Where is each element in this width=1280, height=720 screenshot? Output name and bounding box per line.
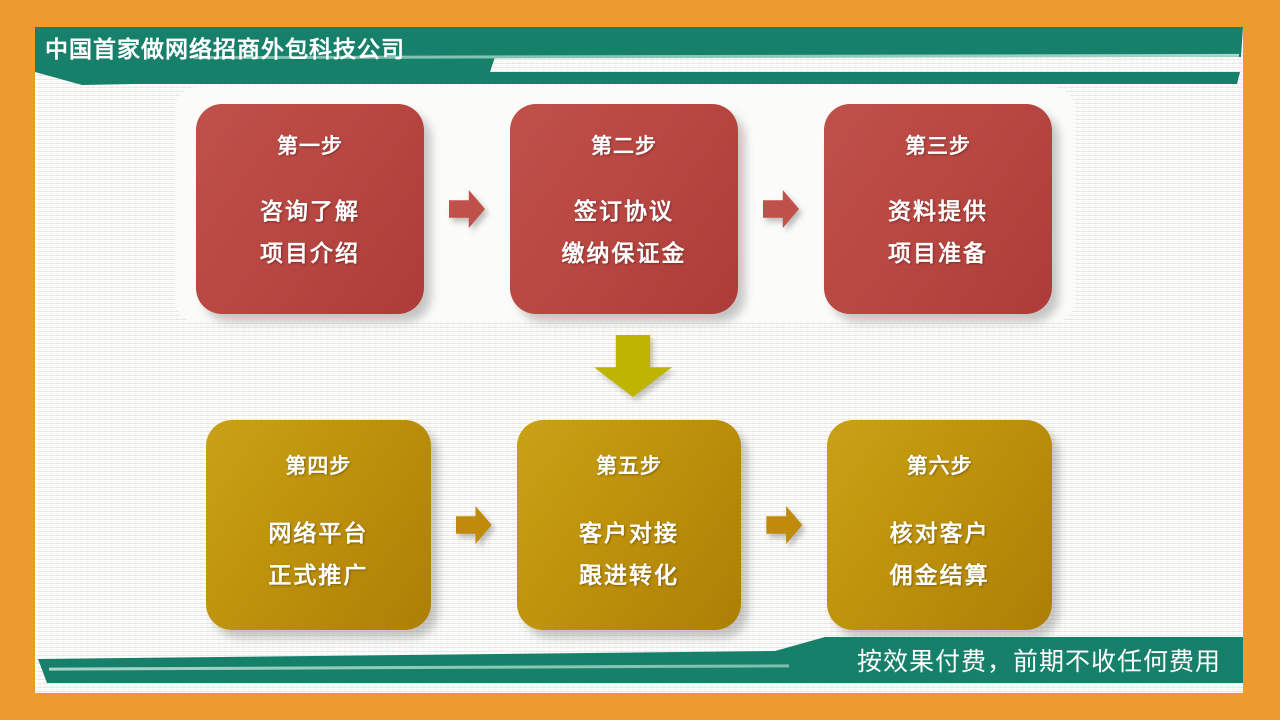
step-line-4-1: 网络平台: [268, 512, 368, 554]
step-card-2[interactable]: 第二步 签订协议 缴纳保证金: [510, 104, 738, 314]
step-title-4: 第四步: [285, 450, 351, 480]
arrow-right-icon-4: [766, 506, 802, 544]
step-title-6: 第六步: [907, 450, 973, 480]
arrow-right-shape-4: [766, 506, 802, 544]
slide-root: 中国首家做网络招商外包科技公司 第一步 咨询了解 项目介绍 第二步 签订协议 缴…: [0, 0, 1280, 720]
step-title-2: 第二步: [591, 130, 657, 160]
step-line-3-1: 资料提供: [888, 190, 988, 232]
step-card-5[interactable]: 第五步 客户对接 跟进转化: [517, 420, 742, 630]
step-card-1[interactable]: 第一步 咨询了解 项目介绍: [196, 104, 424, 314]
step-line-5-1: 客户对接: [579, 512, 679, 554]
step-card-3[interactable]: 第三步 资料提供 项目准备: [824, 104, 1052, 314]
page-title: 中国首家做网络招商外包科技公司: [45, 27, 405, 72]
step-line-3-2: 项目准备: [888, 232, 988, 274]
arrow-right-shape-1: [449, 190, 485, 228]
step-body-1: 咨询了解 项目介绍: [260, 190, 360, 274]
arrow-down-icon: [594, 335, 672, 397]
process-row-top: 第一步 咨询了解 项目介绍 第二步 签订协议 缴纳保证金 第三步 资料提供 项目…: [196, 104, 1062, 314]
step-line-5-2: 跟进转化: [579, 554, 679, 596]
arrow-right-icon-2: [763, 190, 799, 228]
step-body-5: 客户对接 跟进转化: [579, 512, 679, 596]
arrow-right-icon-3: [456, 506, 492, 544]
arrow-right-shape-3: [456, 506, 492, 544]
process-row-bottom: 第四步 网络平台 正式推广 第五步 客户对接 跟进转化 第六步 核对客户 佣金结…: [206, 420, 1052, 630]
arrow-right-icon-1: [449, 190, 485, 228]
step-line-2-1: 签订协议: [562, 190, 687, 232]
step-body-6: 核对客户 佣金结算: [890, 512, 990, 596]
step-card-6[interactable]: 第六步 核对客户 佣金结算: [827, 420, 1052, 630]
footer-banner: 按效果付费，前期不收任何费用: [35, 637, 1243, 683]
step-body-2: 签订协议 缴纳保证金: [562, 190, 687, 274]
arrow-right-shape-2: [763, 190, 799, 228]
step-card-4[interactable]: 第四步 网络平台 正式推广: [206, 420, 431, 630]
step-line-6-2: 佣金结算: [890, 554, 990, 596]
step-line-1-1: 咨询了解: [260, 190, 360, 232]
step-line-1-2: 项目介绍: [260, 232, 360, 274]
step-line-6-1: 核对客户: [890, 512, 990, 554]
step-title-3: 第三步: [905, 130, 971, 160]
step-body-4: 网络平台 正式推广: [268, 512, 368, 596]
step-title-5: 第五步: [596, 450, 662, 480]
step-line-4-2: 正式推广: [268, 554, 368, 596]
step-line-2-2: 缴纳保证金: [562, 232, 687, 274]
arrow-down-shape: [594, 335, 672, 397]
header-banner: 中国首家做网络招商外包科技公司: [35, 27, 1243, 89]
footer-tagline: 按效果付费，前期不收任何费用: [857, 643, 1221, 681]
step-title-1: 第一步: [277, 130, 343, 160]
step-body-3: 资料提供 项目准备: [888, 190, 988, 274]
